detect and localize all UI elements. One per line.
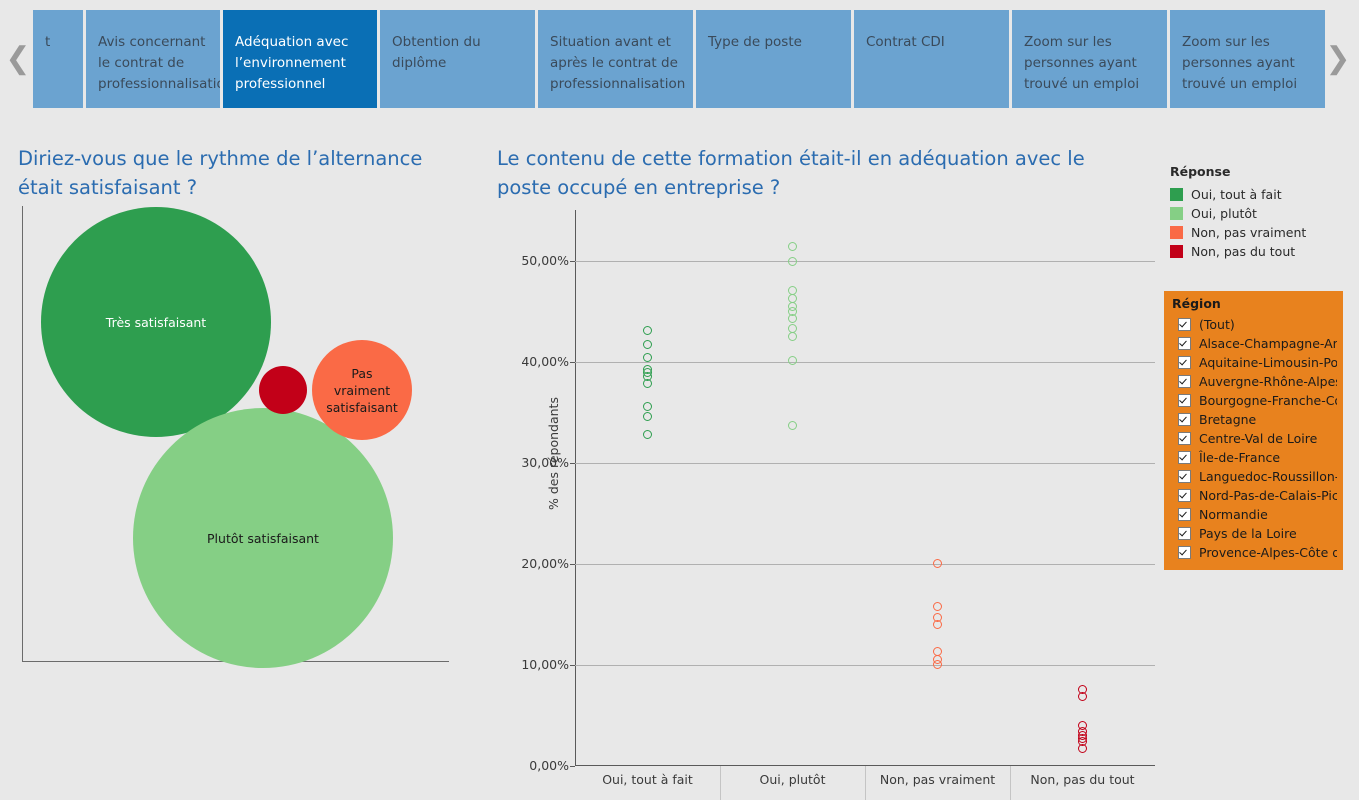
checkbox-checked-icon[interactable]: [1178, 337, 1191, 350]
data-point[interactable]: [643, 326, 652, 335]
checkbox-checked-icon[interactable]: [1178, 508, 1191, 521]
checkbox-checked-icon[interactable]: [1178, 470, 1191, 483]
tab-label: Avis concernant le contrat de profession…: [98, 34, 220, 92]
checkbox-checked-icon[interactable]: [1178, 489, 1191, 502]
scatter-chart-panel: Le contenu de cette formation était-il e…: [480, 116, 1170, 725]
legend-swatch: [1170, 207, 1183, 220]
gridline-40: [575, 362, 1155, 363]
data-point[interactable]: [788, 356, 797, 365]
y-tick-label: 40,00%: [479, 354, 569, 369]
legend-item-label: Oui, plutôt: [1191, 206, 1257, 221]
gridline-30: [575, 463, 1155, 464]
y-tick-label: 50,00%: [479, 253, 569, 268]
tab-label: Obtention du diplôme: [392, 34, 481, 71]
legend-swatch: [1170, 226, 1183, 239]
region-filter-item-0[interactable]: (Tout): [1170, 315, 1337, 334]
data-point[interactable]: [643, 412, 652, 421]
y-tick-mark: [570, 463, 575, 464]
region-filter-item-label: Centre-Val de Loire: [1199, 431, 1317, 446]
legend-swatch: [1170, 188, 1183, 201]
tab-6[interactable]: Contrat CDI: [854, 10, 1009, 108]
tab-list: tAvis concernant le contrat de professio…: [33, 10, 1328, 108]
chevron-left-icon[interactable]: ❮: [5, 44, 31, 78]
region-filter-item-label: Bretagne: [1199, 412, 1256, 427]
response-legend-title: Réponse: [1170, 164, 1355, 179]
data-point[interactable]: [788, 332, 797, 341]
y-tick-mark: [570, 665, 575, 666]
legend-item-0[interactable]: Oui, tout à fait: [1170, 185, 1355, 204]
region-filter-item-3[interactable]: Auvergne-Rhône-Alpes: [1170, 372, 1337, 391]
tab-2[interactable]: Adéquation avec l’environnement professi…: [223, 10, 377, 108]
region-filter-item-9[interactable]: Nord-Pas-de-Calais-Pic...: [1170, 486, 1337, 505]
region-filter-item-label: (Tout): [1199, 317, 1235, 332]
x-axis-separator: [720, 766, 721, 800]
bubble-label: Pas vraiment satisfaisant: [323, 365, 401, 416]
region-filter-panel[interactable]: Région (Tout)Alsace-Champagne-Ard...Aqui…: [1164, 291, 1343, 570]
region-filter-item-8[interactable]: Languedoc-Roussillon-...: [1170, 467, 1337, 486]
tab-label: t: [45, 34, 50, 50]
response-legend: Réponse Oui, tout à faitOui, plutôtNon, …: [1170, 164, 1355, 261]
legend-item-2[interactable]: Non, pas vraiment: [1170, 223, 1355, 242]
region-filter-item-label: Normandie: [1199, 507, 1268, 522]
checkbox-checked-icon[interactable]: [1178, 318, 1191, 331]
region-filter-item-label: Île-de-France: [1199, 450, 1280, 465]
checkbox-checked-icon[interactable]: [1178, 375, 1191, 388]
tab-5[interactable]: Type de poste: [696, 10, 851, 108]
checkbox-checked-icon[interactable]: [1178, 527, 1191, 540]
region-filter-item-1[interactable]: Alsace-Champagne-Ard...: [1170, 334, 1337, 353]
bubble-3[interactable]: [259, 366, 307, 414]
scatter-chart-title: Le contenu de cette formation était-il e…: [497, 144, 1137, 202]
tab-4[interactable]: Situation avant et après le contrat de p…: [538, 10, 693, 108]
checkbox-checked-icon[interactable]: [1178, 356, 1191, 369]
data-point[interactable]: [788, 257, 797, 266]
data-point[interactable]: [1078, 692, 1087, 701]
scatter-plot-area: % des répondants 0,00%10,00%20,00%30,00%…: [575, 210, 1155, 766]
bubble-chart-panel: Diriez-vous que le rythme de l’alternanc…: [0, 116, 480, 725]
region-filter-title: Région: [1172, 296, 1337, 311]
dashboard-tab-strip: ❮ ❯ tAvis concernant le contrat de profe…: [0, 0, 1359, 116]
data-point[interactable]: [933, 660, 942, 669]
checkbox-checked-icon[interactable]: [1178, 394, 1191, 407]
x-tick-label-0: Oui, tout à fait: [602, 772, 693, 787]
data-point[interactable]: [643, 430, 652, 439]
response-legend-items: Oui, tout à faitOui, plutôtNon, pas vrai…: [1170, 185, 1355, 261]
region-filter-item-2[interactable]: Aquitaine-Limousin-Poi...: [1170, 353, 1337, 372]
x-tick-label-1: Oui, plutôt: [760, 772, 826, 787]
y-tick-label: 30,00%: [479, 455, 569, 470]
x-axis-separator: [1010, 766, 1011, 800]
data-point[interactable]: [643, 353, 652, 362]
tab-label: Adéquation avec l’environnement professi…: [235, 34, 348, 92]
legend-item-label: Non, pas du tout: [1191, 244, 1295, 259]
bubble-chart-plot-area: Très satisfaisantPlutôt satisfaisantPas …: [22, 206, 452, 661]
legend-item-label: Oui, tout à fait: [1191, 187, 1282, 202]
region-filter-item-7[interactable]: Île-de-France: [1170, 448, 1337, 467]
legend-swatch: [1170, 245, 1183, 258]
tab-0[interactable]: t: [33, 10, 83, 108]
y-tick-label: 0,00%: [479, 758, 569, 773]
tab-label: Type de poste: [708, 34, 802, 50]
data-point[interactable]: [933, 559, 942, 568]
region-filter-item-label: Bourgogne-Franche-Co...: [1199, 393, 1337, 408]
y-tick-label: 20,00%: [479, 556, 569, 571]
y-axis-label: % des répondants: [546, 397, 561, 510]
region-filter-item-label: Alsace-Champagne-Ard...: [1199, 336, 1337, 351]
tab-label: Contrat CDI: [866, 34, 945, 50]
bubble-label: Plutôt satisfaisant: [207, 530, 319, 547]
region-filter-item-label: Aquitaine-Limousin-Poi...: [1199, 355, 1337, 370]
data-point[interactable]: [933, 602, 942, 611]
x-tick-label-2: Non, pas vraiment: [880, 772, 995, 787]
tab-3[interactable]: Obtention du diplôme: [380, 10, 535, 108]
checkbox-checked-icon[interactable]: [1178, 546, 1191, 559]
data-point[interactable]: [643, 402, 652, 411]
bubble-2[interactable]: Pas vraiment satisfaisant: [312, 340, 412, 440]
region-filter-item-label: Languedoc-Roussillon-...: [1199, 469, 1337, 484]
legend-item-3[interactable]: Non, pas du tout: [1170, 242, 1355, 261]
bubble-0[interactable]: Très satisfaisant: [41, 207, 271, 437]
y-tick-mark: [570, 766, 575, 767]
tab-1[interactable]: Avis concernant le contrat de profession…: [86, 10, 220, 108]
gridline-10: [575, 665, 1155, 666]
tab-8[interactable]: Zoom sur les personnes ayant trouvé un e…: [1170, 10, 1325, 108]
region-filter-item-12[interactable]: Provence-Alpes-Côte d’...: [1170, 543, 1337, 562]
region-filter-item-label: Provence-Alpes-Côte d’...: [1199, 545, 1337, 560]
data-point[interactable]: [1078, 744, 1087, 753]
y-tick-mark: [570, 564, 575, 565]
x-axis-separator: [865, 766, 866, 800]
tab-7[interactable]: Zoom sur les personnes ayant trouvé un e…: [1012, 10, 1167, 108]
y-tick-label: 10,00%: [479, 657, 569, 672]
legend-item-1[interactable]: Oui, plutôt: [1170, 204, 1355, 223]
region-filter-list: (Tout)Alsace-Champagne-Ard...Aquitaine-L…: [1170, 315, 1337, 562]
tab-label: Zoom sur les personnes ayant trouvé un e…: [1182, 34, 1297, 92]
tab-label: Situation avant et après le contrat de p…: [550, 34, 685, 92]
data-point[interactable]: [788, 242, 797, 251]
region-filter-item-label: Pays de la Loire: [1199, 526, 1297, 541]
bubble-label: Très satisfaisant: [106, 314, 206, 331]
x-tick-label-3: Non, pas du tout: [1030, 772, 1134, 787]
bubble-chart-title: Diriez-vous que le rythme de l’alternanc…: [18, 144, 458, 202]
gridline-20: [575, 564, 1155, 565]
y-tick-mark: [570, 261, 575, 262]
y-tick-mark: [570, 362, 575, 363]
region-filter-item-11[interactable]: Pays de la Loire: [1170, 524, 1337, 543]
checkbox-checked-icon[interactable]: [1178, 451, 1191, 464]
tab-label: Zoom sur les personnes ayant trouvé un e…: [1024, 34, 1139, 92]
gridline-50: [575, 261, 1155, 262]
checkbox-checked-icon[interactable]: [1178, 413, 1191, 426]
data-point[interactable]: [788, 314, 797, 323]
checkbox-checked-icon[interactable]: [1178, 432, 1191, 445]
region-filter-item-6[interactable]: Centre-Val de Loire: [1170, 429, 1337, 448]
region-filter-item-10[interactable]: Normandie: [1170, 505, 1337, 524]
region-filter-item-label: Auvergne-Rhône-Alpes: [1199, 374, 1337, 389]
bubble-1[interactable]: Plutôt satisfaisant: [133, 408, 393, 668]
region-filter-item-label: Nord-Pas-de-Calais-Pic...: [1199, 488, 1337, 503]
data-point[interactable]: [933, 620, 942, 629]
y-axis-line: [575, 210, 576, 766]
chevron-right-icon[interactable]: ❯: [1325, 44, 1351, 78]
region-filter-item-4[interactable]: Bourgogne-Franche-Co...: [1170, 391, 1337, 410]
data-point[interactable]: [643, 379, 652, 388]
data-point[interactable]: [788, 421, 797, 430]
data-point[interactable]: [643, 340, 652, 349]
legend-item-label: Non, pas vraiment: [1191, 225, 1306, 240]
region-filter-item-5[interactable]: Bretagne: [1170, 410, 1337, 429]
